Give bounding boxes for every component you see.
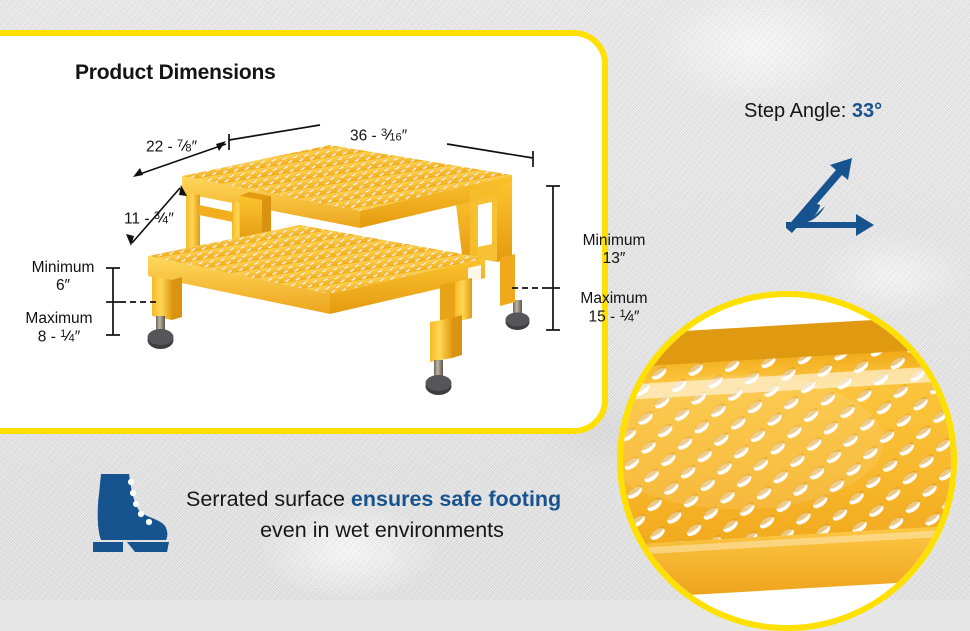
step-angle-value: 33°: [852, 100, 882, 122]
page-title: Product Dimensions: [75, 61, 276, 85]
footing-line2: even in wet environments: [186, 515, 606, 546]
left-minimum-value: 6″: [18, 277, 108, 295]
dimension-width: 36 - 3/16″: [350, 127, 407, 146]
serrated-grating-closeup: [617, 291, 957, 631]
step-angle-label: Step Angle:: [744, 100, 852, 122]
left-minimum-height: Minimum 6″: [18, 259, 108, 296]
left-maximum-label: Maximum: [10, 310, 108, 328]
step-angle-text: Step Angle: 33°: [744, 100, 882, 123]
left-maximum-value: 8 - 1/4″: [10, 328, 108, 347]
right-minimum-label: Minimum: [566, 232, 662, 250]
work-boot-icon: [83, 468, 175, 556]
left-maximum-height: Maximum 8 - 1/4″: [10, 310, 108, 347]
right-minimum-value: 13″: [566, 250, 662, 268]
footing-line1-highlight: ensures safe footing: [351, 487, 561, 511]
angle-arrows-icon: [778, 152, 878, 242]
dimension-step-rise: 11 - 3/4″: [124, 210, 174, 229]
footing-line1-plain: Serrated surface: [186, 487, 351, 511]
footing-message: Serrated surface ensures safe footing ev…: [186, 484, 606, 545]
product-dimensions-panel: [0, 30, 608, 434]
right-minimum-height: Minimum 13″: [566, 232, 662, 269]
dimension-depth: 22 - 7/8″: [146, 138, 197, 157]
grating-photo: [623, 297, 951, 625]
left-minimum-label: Minimum: [18, 259, 108, 277]
